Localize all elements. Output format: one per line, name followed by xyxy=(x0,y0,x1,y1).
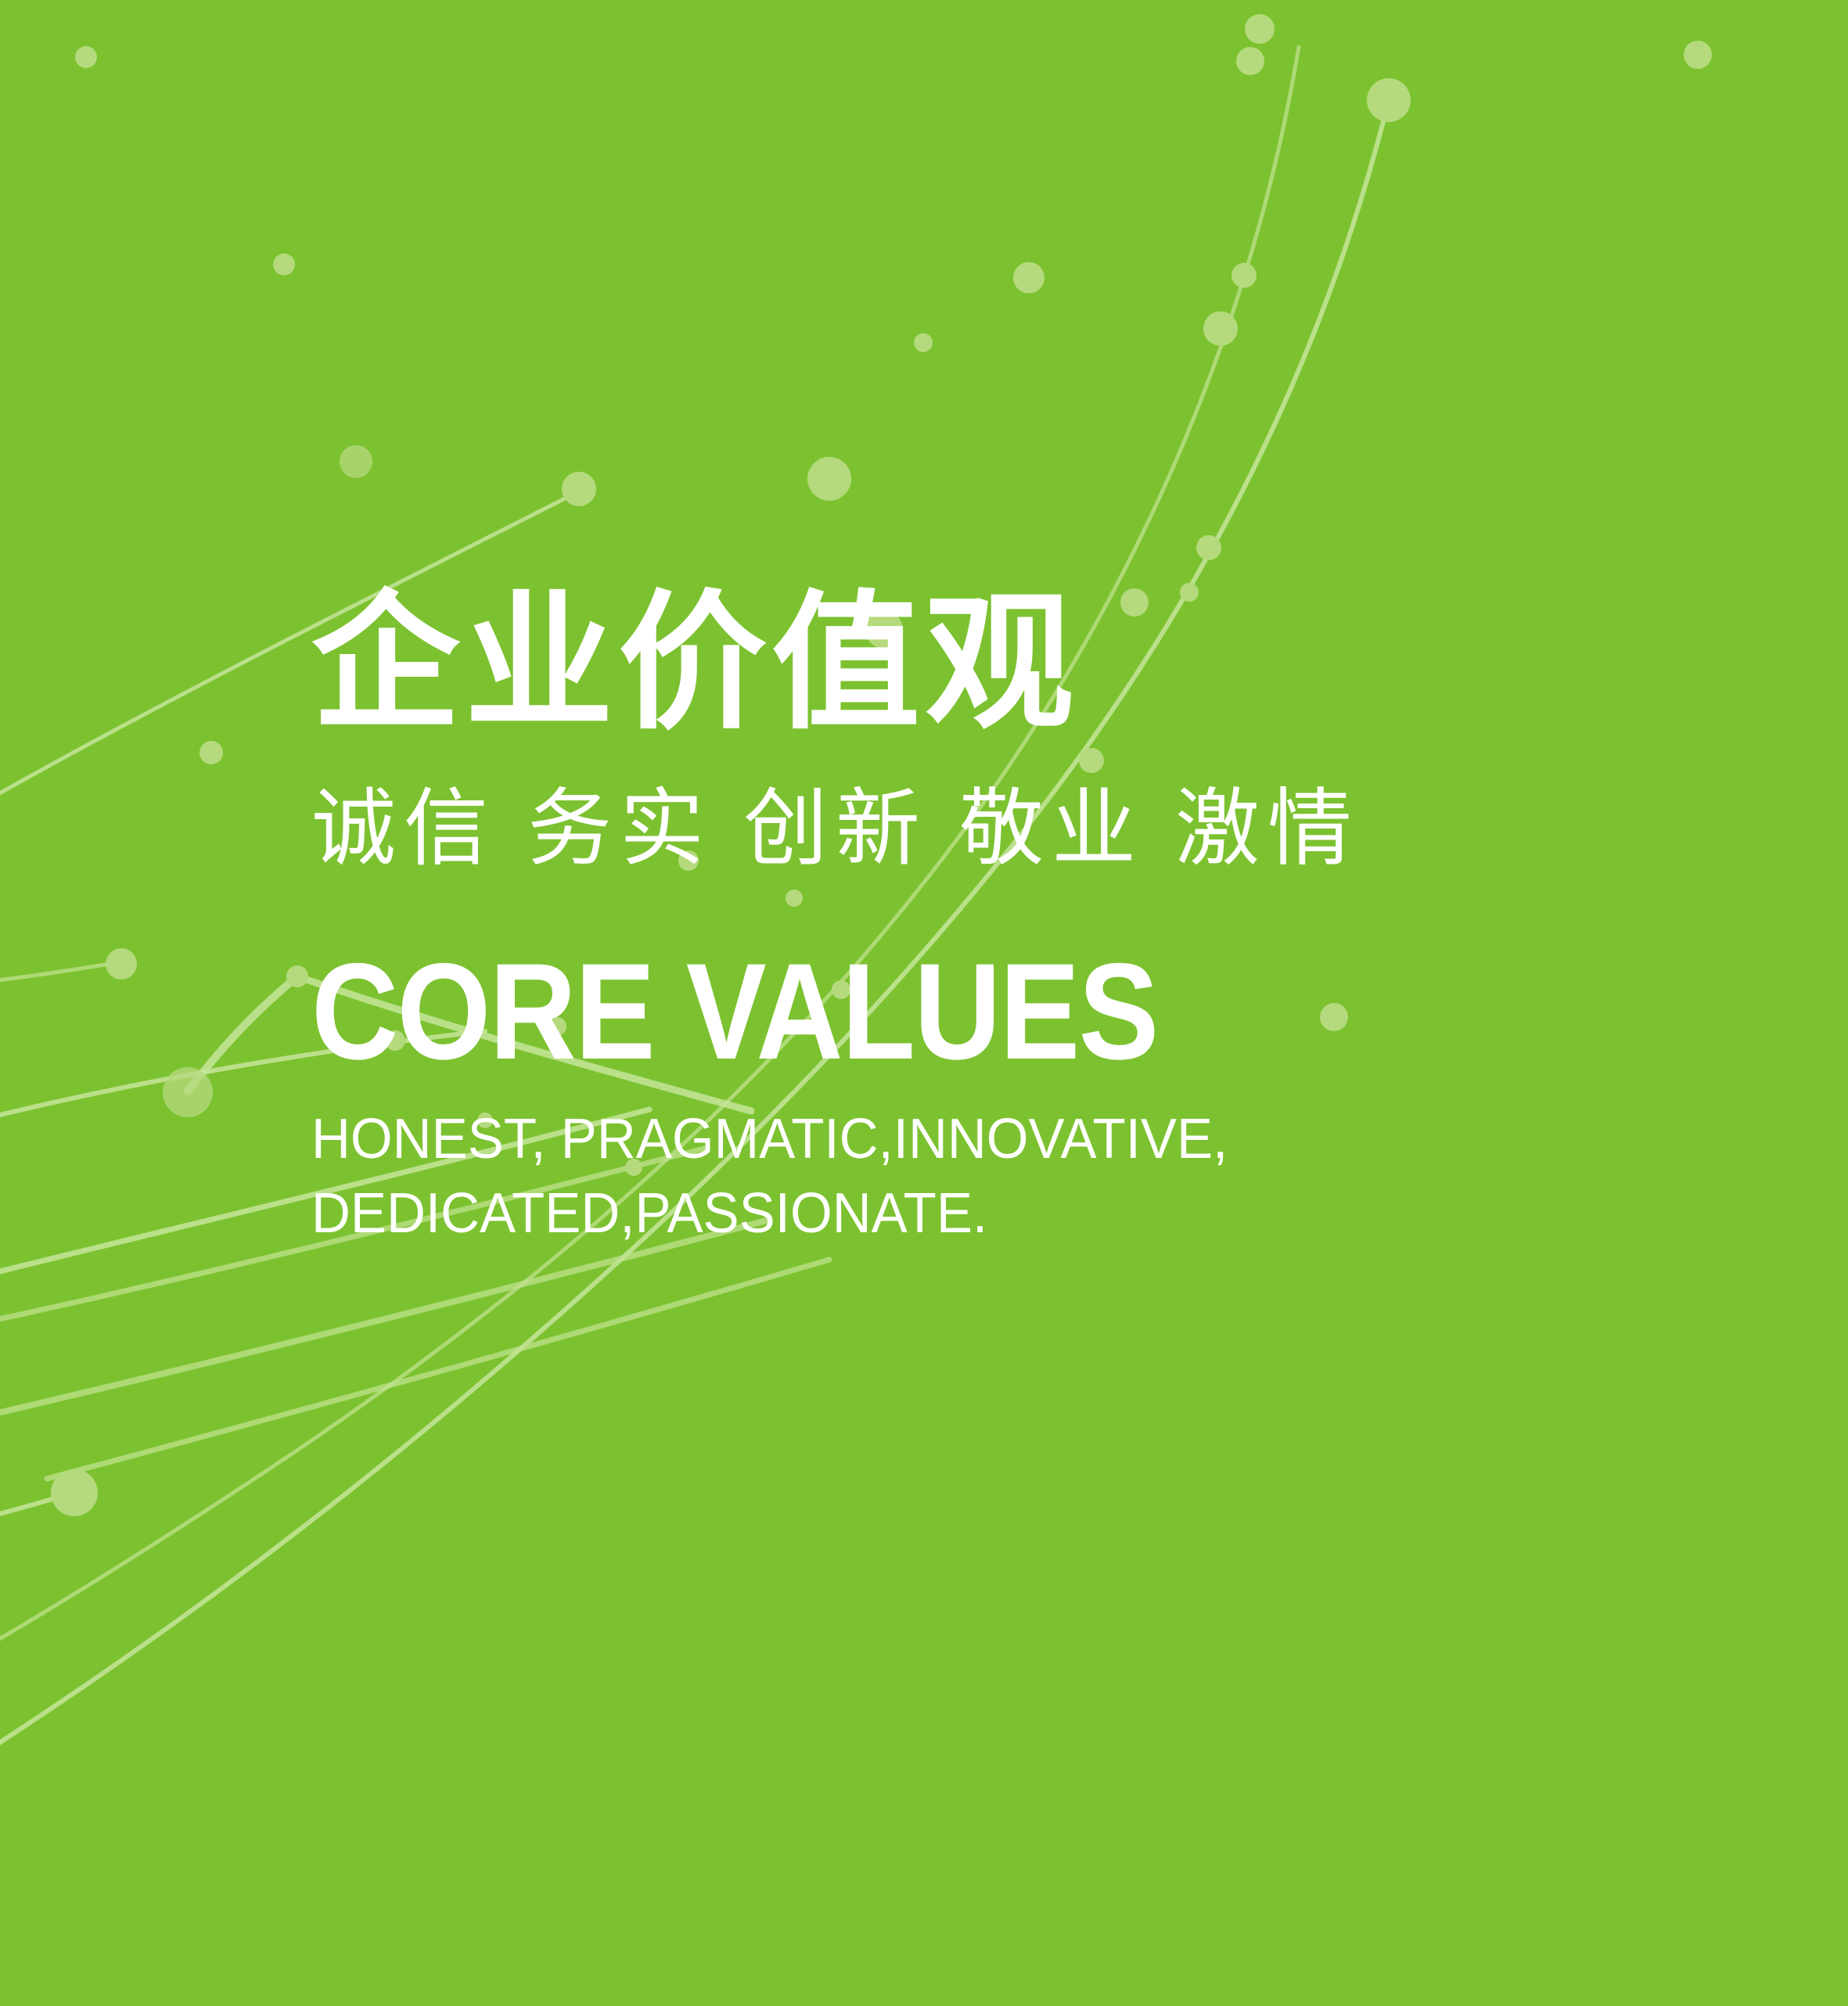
page-title-chinese: 企业价值观 xyxy=(311,585,1720,742)
values-list-english-line-1: HONEST, PRAGMATIC,INNOVATIVE, xyxy=(311,1102,1663,1177)
values-list-english-line-2: DEDICATED,PASSIONATE. xyxy=(311,1177,1663,1251)
headline-block: 企业价值观 诚信 务实 创新 敬业 激情 CORE VALUES HONEST,… xyxy=(311,585,1720,1251)
core-values-poster: .ln { fill:none; stroke:#C6E59A; stroke-… xyxy=(0,0,1848,2006)
values-list-chinese: 诚信 务实 创新 敬业 激情 xyxy=(311,775,1720,881)
page-title-english: CORE VALUES xyxy=(311,944,1551,1080)
values-list-english: HONEST, PRAGMATIC,INNOVATIVE, DEDICATED,… xyxy=(311,1102,1663,1251)
